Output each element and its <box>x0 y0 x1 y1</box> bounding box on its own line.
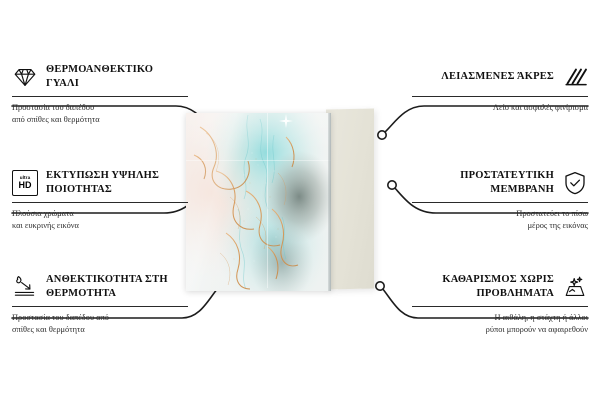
feature-header: ΚΑΘΑΡΙΣΜΟΣ ΧΩΡΙΣ ΠΡΟΒΛΗΜΑΤΑ <box>412 272 588 302</box>
feature-polished-edges: ΛΕΙΑΣΜΕΝΕΣ ΆΚΡΕΣ Λείο και ασφαλές φινίρι… <box>412 62 588 114</box>
product-backing-layer <box>326 108 374 289</box>
connector-dot <box>378 131 386 139</box>
feature-title: ΑΝΘΕΚΤΙΚΟΤΗΤΑ ΣΤΗ ΘΕΡΜΟΤΗΤΑ <box>46 273 188 301</box>
feature-heat-resistant-glass: ΘΕΡΜΟΑΝΘΕΚΤΙΚΟ ΓΥΑΛΙ Προστασία του δαπέδ… <box>12 62 188 126</box>
feature-header: ΠΡΟΣΤΑΤΕΥΤΙΚΗ ΜΕΜΒΡΑΝΗ <box>412 168 588 198</box>
feature-header: ΑΝΘΕΚΤΙΚΟΤΗΤΑ ΣΤΗ ΘΕΡΜΟΤΗΤΑ <box>12 272 188 302</box>
feature-title: ΘΕΡΜΟΑΝΘΕΚΤΙΚΟ ΓΥΑΛΙ <box>46 63 188 91</box>
feature-divider <box>412 202 588 203</box>
feature-header: ΘΕΡΜΟΑΝΘΕΚΤΙΚΟ ΓΥΑΛΙ <box>12 62 188 92</box>
feature-header: ΛΕΙΑΣΜΕΝΕΣ ΆΚΡΕΣ <box>412 62 588 92</box>
feature-header: ultra HD ΕΚΤΥΠΩΣΗ ΥΨΗΛΗΣ ΠΟΙΟΤΗΤΑΣ <box>12 168 188 198</box>
feature-description: Λείο και ασφαλές φινίρισμα <box>412 102 588 114</box>
connector-dot <box>388 181 396 189</box>
feature-description: Προστατεύει το πίσωμέρος της εικόνας <box>412 208 588 232</box>
feature-title: ΛΕΙΑΣΜΕΝΕΣ ΆΚΡΕΣ <box>441 70 554 84</box>
feature-title: ΠΡΟΣΤΑΤΕΥΤΙΚΗ ΜΕΜΒΡΑΝΗ <box>412 169 554 197</box>
feature-description: Η αιθάλη, η στάχτη ή άλλοιρύποι μπορούν … <box>412 312 588 336</box>
feature-title: ΕΚΤΥΠΩΣΗ ΥΨΗΛΗΣ ΠΟΙΟΤΗΤΑΣ <box>46 169 188 197</box>
marble-artwork <box>186 113 331 291</box>
diamond-icon <box>12 64 38 90</box>
feature-high-quality-print: ultra HD ΕΚΤΥΠΩΣΗ ΥΨΗΛΗΣ ΠΟΙΟΤΗΤΑΣ Πλούσ… <box>12 168 188 232</box>
feature-description: Προστασία του δαπέδου απόσπίθες και θερμ… <box>12 312 188 336</box>
feature-heat-durability: ΑΝΘΕΚΤΙΚΟΤΗΤΑ ΣΤΗ ΘΕΡΜΟΤΗΤΑ Προστασία το… <box>12 272 188 336</box>
shield-check-icon <box>562 170 588 196</box>
polished-edges-icon <box>562 64 588 90</box>
feature-protective-film: ΠΡΟΣΤΑΤΕΥΤΙΚΗ ΜΕΜΒΡΑΝΗ Προστατεύει το πί… <box>412 168 588 232</box>
product-panel <box>186 113 362 291</box>
feature-divider <box>12 202 188 203</box>
feature-divider <box>12 96 188 97</box>
feature-title: ΚΑΘΑΡΙΣΜΟΣ ΧΩΡΙΣ ΠΡΟΒΛΗΜΑΤΑ <box>412 273 554 301</box>
infographic-stage: ΘΕΡΜΟΑΝΘΕΚΤΙΚΟ ΓΥΑΛΙ Προστασία του δαπέδ… <box>0 0 600 400</box>
glass-panel <box>186 113 331 291</box>
easy-cleaning-icon <box>562 274 588 300</box>
heat-resistance-icon <box>12 274 38 300</box>
feature-divider <box>412 306 588 307</box>
glass-edge <box>328 113 331 291</box>
badge-text-bottom: HD <box>19 181 32 190</box>
feature-description: Πλούσια χρώματακαι ευκρινής εικόνα <box>12 208 188 232</box>
connector-dot <box>376 282 384 290</box>
feature-easy-cleaning: ΚΑΘΑΡΙΣΜΟΣ ΧΩΡΙΣ ΠΡΟΒΛΗΜΑΤΑ Η αιθάλη, η … <box>412 272 588 336</box>
feature-divider <box>412 96 588 97</box>
feature-description: Προστασία του δαπέδουαπό σπίθες και θερμ… <box>12 102 188 126</box>
feature-divider <box>12 306 188 307</box>
ultra-hd-badge-icon: ultra HD <box>12 170 38 196</box>
